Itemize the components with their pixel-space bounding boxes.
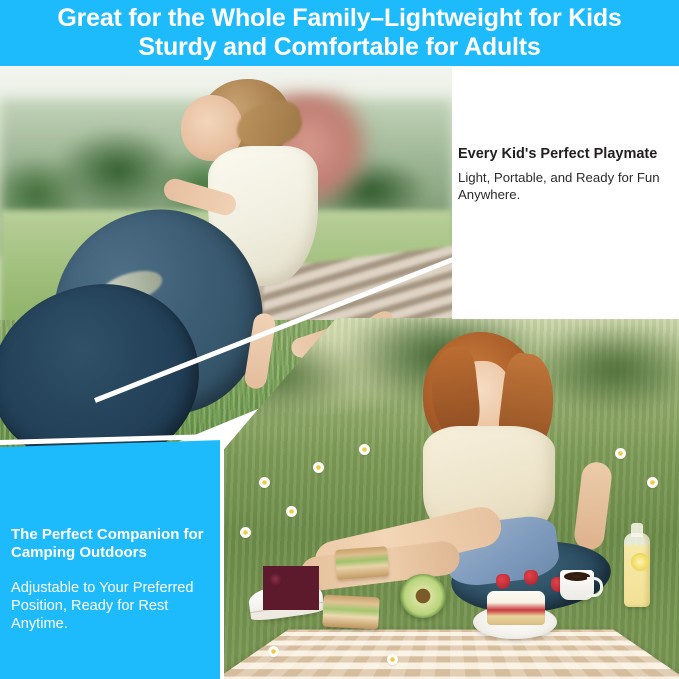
strawberry-cake bbox=[487, 591, 545, 625]
header-banner: Great for the Whole Family–Lightweight f… bbox=[0, 0, 679, 66]
panel-kid-inner: Every Kid's Perfect Playmate Light, Port… bbox=[458, 146, 679, 204]
panel-camping-inner: The Perfect Companion for Camping Outdoo… bbox=[11, 526, 216, 634]
panel-camping-text: The Perfect Companion for Camping Outdoo… bbox=[0, 440, 223, 679]
panel-kid-body: Light, Portable, and Ready for Fun Anywh… bbox=[458, 170, 679, 204]
daisy-icon bbox=[268, 646, 279, 657]
panel-camping-title: The Perfect Companion for Camping Outdoo… bbox=[11, 526, 216, 563]
daisy-icon bbox=[286, 506, 297, 517]
daisy-icon bbox=[647, 477, 658, 488]
grapes bbox=[263, 566, 319, 610]
panel-kid-title: Every Kid's Perfect Playmate bbox=[458, 146, 679, 163]
daisy-icon bbox=[615, 448, 626, 459]
strawberry-icon bbox=[524, 570, 538, 585]
coffee-mug bbox=[560, 570, 594, 600]
page-title: Great for the Whole Family–Lightweight f… bbox=[10, 4, 670, 63]
daisy-icon bbox=[387, 654, 398, 665]
strawberry-icon bbox=[496, 574, 510, 589]
product-infographic: Great for the Whole Family–Lightweight f… bbox=[0, 0, 679, 679]
picnic-blanket bbox=[222, 629, 679, 679]
sandwich-top bbox=[335, 546, 389, 580]
avocado-half bbox=[400, 574, 446, 618]
panel-kid-text: Every Kid's Perfect Playmate Light, Port… bbox=[453, 67, 679, 318]
lemon-slice bbox=[631, 553, 649, 571]
daisy-icon bbox=[259, 477, 270, 488]
sandwich-bottom bbox=[322, 595, 380, 630]
panel-camping-body: Adjustable to Your Preferred Position, R… bbox=[11, 579, 216, 634]
photo-picnic bbox=[222, 318, 679, 679]
